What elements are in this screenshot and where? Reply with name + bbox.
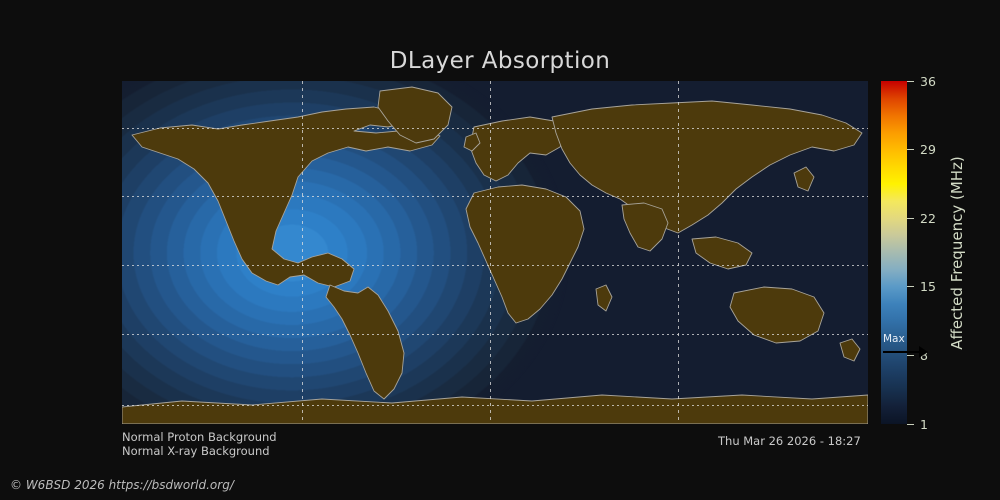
world-map[interactable] <box>122 81 868 424</box>
xray-status-text: Normal X-ray Background <box>122 444 270 458</box>
colorbar[interactable] <box>881 81 907 424</box>
timestamp-text: Thu Mar 26 2026 - 18:27 <box>718 434 861 448</box>
right-arrow-head-icon <box>919 346 928 358</box>
max-marker-label: Max <box>883 333 905 345</box>
tick-mark <box>907 149 914 150</box>
tick-mark <box>907 81 914 82</box>
landmass-madagascar <box>596 285 612 311</box>
copyright-text: © W6BSD 2026 https://bsdworld.org/ <box>10 478 234 492</box>
proton-status-text: Normal Proton Background <box>122 430 277 444</box>
landmass-africa <box>466 185 584 323</box>
landmass-australia <box>730 287 824 343</box>
landmass-japan <box>794 167 814 191</box>
right-arrow-icon <box>883 351 921 353</box>
landmass-asia <box>552 101 862 233</box>
max-marker: Max <box>881 342 971 362</box>
landmass-south-america <box>326 285 404 399</box>
dlayer-absorption-screen: DLayer Absorption <box>0 0 1000 500</box>
landmass-north-america <box>132 107 440 287</box>
tick-mark <box>907 424 914 425</box>
tick-mark <box>907 286 914 287</box>
landmass-indonesia <box>692 237 752 269</box>
tick-mark <box>907 218 914 219</box>
landmass-new-zealand <box>840 339 860 361</box>
page-title: DLayer Absorption <box>0 48 1000 74</box>
colorbar-gradient <box>881 81 907 424</box>
continents-layer <box>122 81 868 424</box>
map-clip <box>122 81 868 424</box>
landmass-india <box>622 203 668 251</box>
colorbar-axis-label: Affected Frequency (MHz) <box>947 81 967 424</box>
coastline-svg <box>122 81 868 424</box>
landmass-antarctica <box>122 395 868 424</box>
landmass-europe <box>470 117 566 181</box>
